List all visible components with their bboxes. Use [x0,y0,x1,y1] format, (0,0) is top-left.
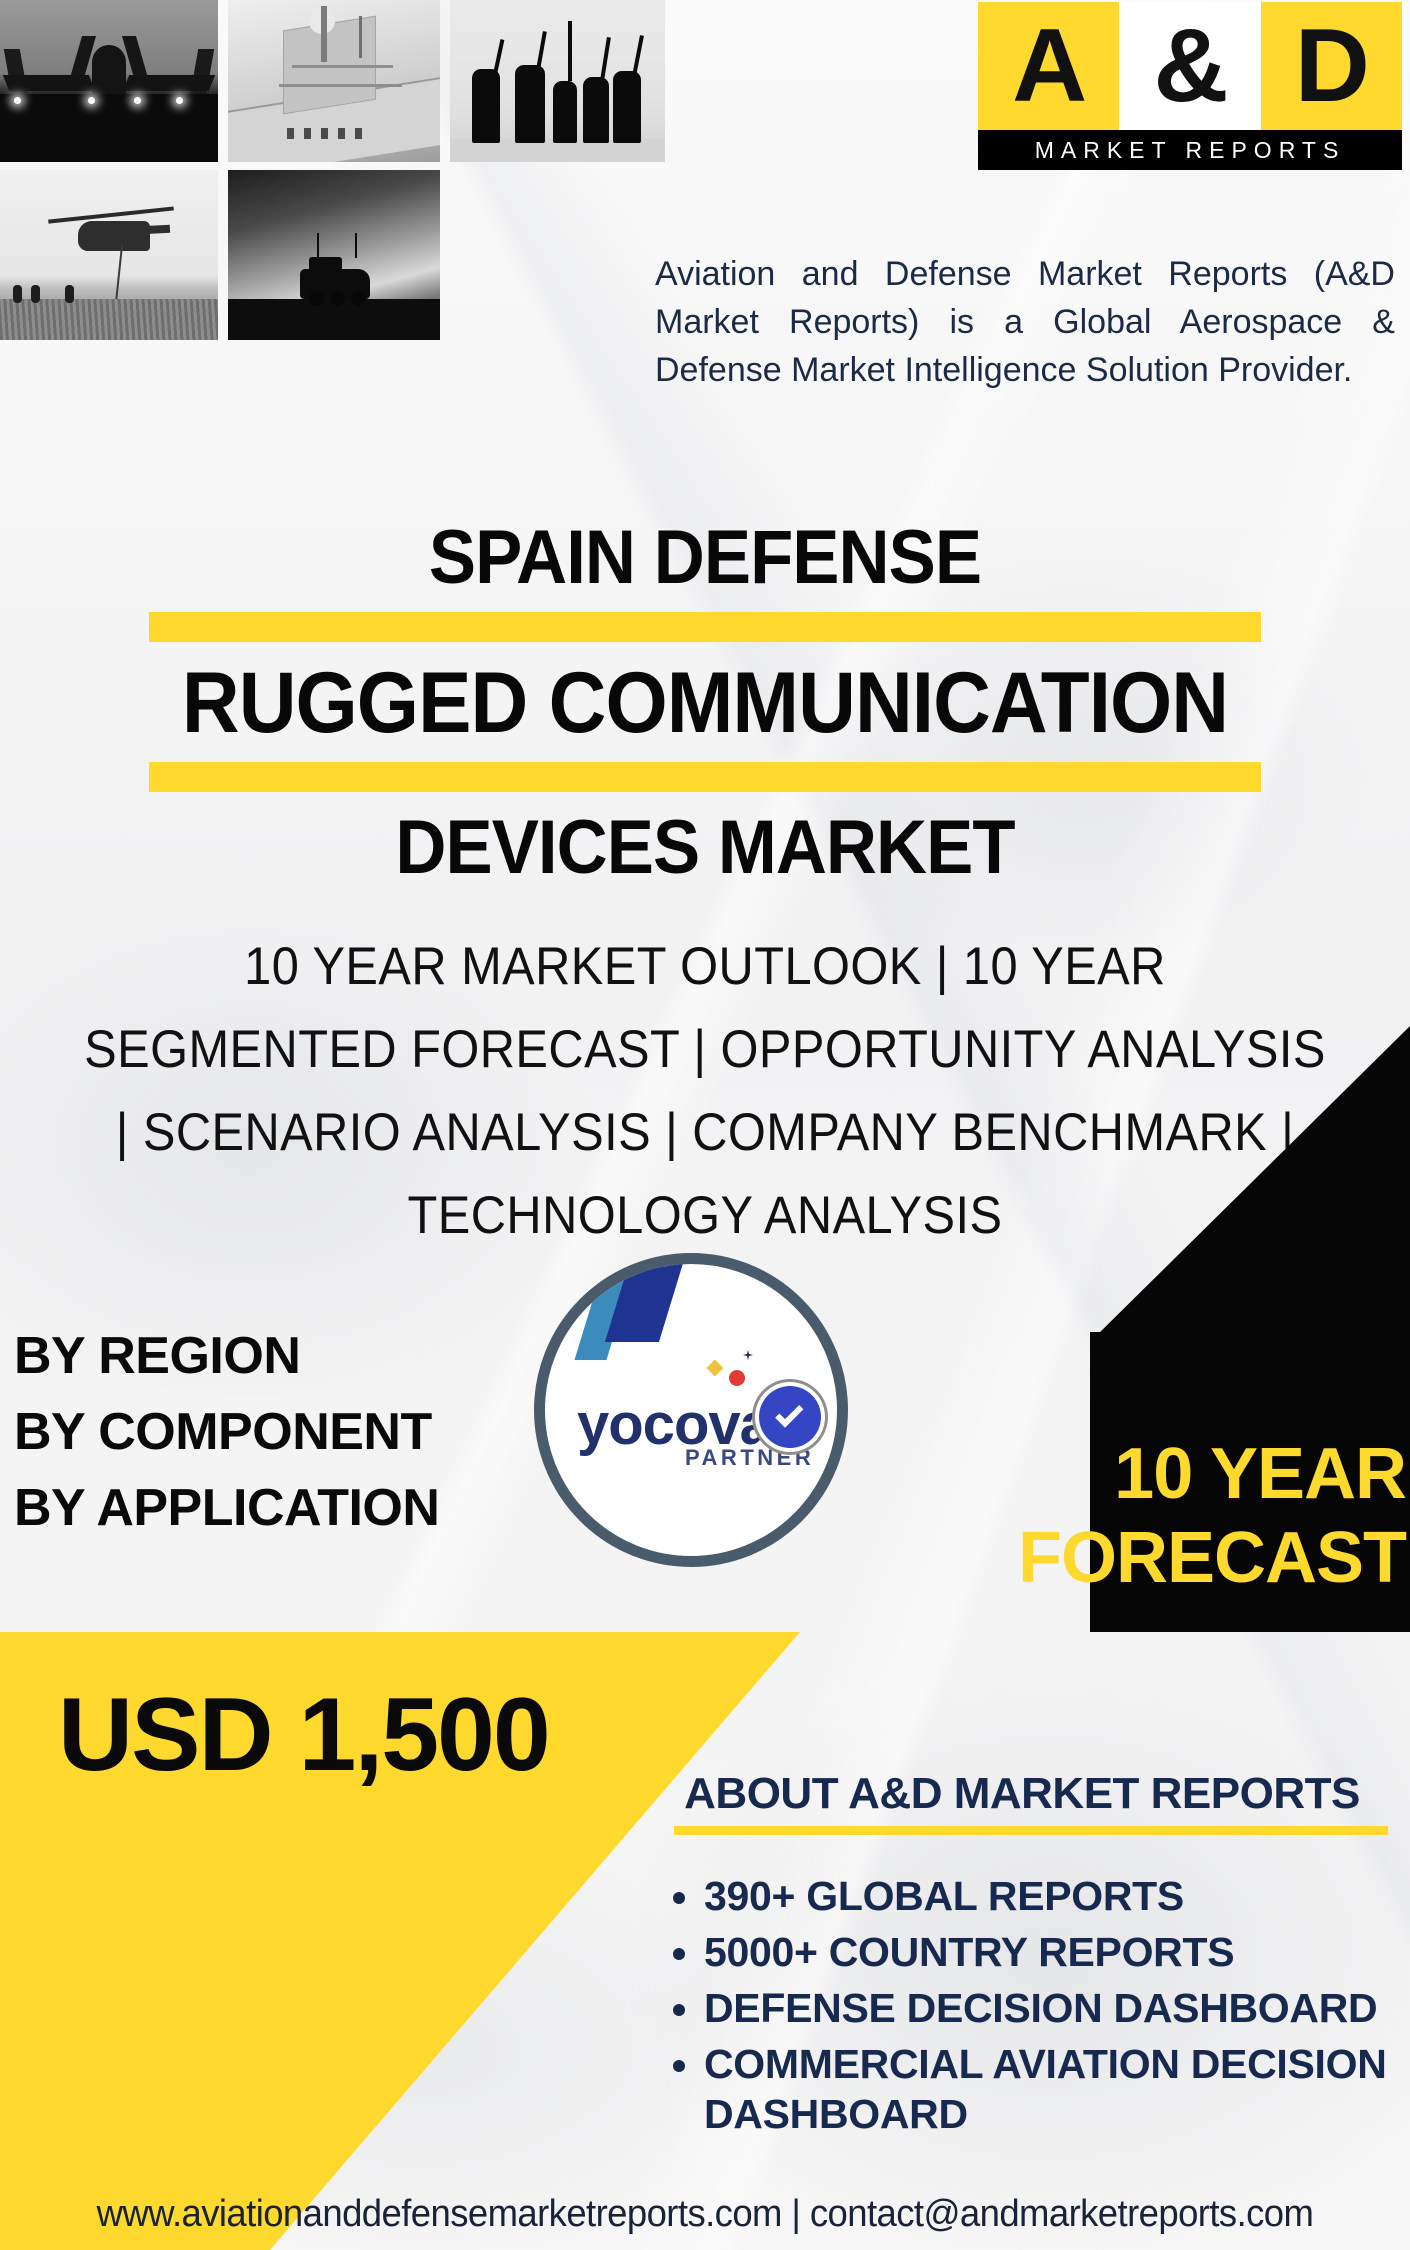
title-divider-bar-2 [149,762,1261,792]
photo-warship [228,0,440,162]
logo-letter-d: D [1261,2,1402,130]
logo-subtitle: MARKET REPORTS [978,130,1402,170]
report-cover-poster: A & D MARKET REPORTS Aviation and Defens… [0,0,1410,2250]
about-heading: ABOUT A&D MARKET REPORTS [652,1768,1392,1820]
sparkle-icon [743,1350,753,1360]
logo-letter-a: A [978,2,1119,130]
segmentation-item-region: BY REGION [14,1318,574,1394]
title-divider-bar-1 [149,612,1261,642]
verified-check-icon [759,1386,821,1448]
photo-collage [0,0,660,340]
about-section: ABOUT A&D MARKET REPORTS 390+ GLOBAL REP… [652,1768,1392,2145]
segmentation-item-application: BY APPLICATION [14,1470,574,1546]
price-label: USD 1,500 [58,1676,549,1795]
company-intro-paragraph: Aviation and Defense Market Reports (A&D… [655,250,1395,394]
logo-letter-ampersand: & [1119,2,1260,130]
list-item: 5000+ COUNTRY REPORTS [704,1927,1392,1977]
logo-tiles: A & D [978,2,1402,130]
badge-shape-dark-blue [605,1253,687,1342]
about-heading-underline [674,1826,1388,1835]
photo-fighter-jet [0,0,218,162]
list-item: DEFENSE DECISION DASHBOARD [704,1983,1392,2033]
segmentation-item-component: BY COMPONENT [14,1394,574,1470]
photo-soldiers [450,0,665,162]
page-title: SPAIN DEFENSE RUGGED COMMUNICATION DEVIC… [0,515,1410,891]
footer-contact: www.aviationanddefensemarketreports.com … [28,2193,1382,2236]
list-item: 390+ GLOBAL REPORTS [704,1871,1392,1921]
brand-logo: A & D MARKET REPORTS [978,2,1402,170]
photo-helicopter [0,170,218,340]
title-line-3: DEVICES MARKET [49,805,1360,891]
dot-icon [729,1370,745,1386]
forecast-callout: 10 YEAR FORECAST [860,1432,1406,1600]
list-item: COMMERCIAL AVIATION DECISION DASHBOARD [704,2039,1392,2139]
forecast-line-1: 10 YEAR [860,1432,1406,1516]
diamond-icon [707,1360,724,1377]
forecast-line-2: FORECAST [860,1516,1406,1600]
photo-armored-vehicle [228,170,440,340]
yocova-partner-badge: yocova PARTNER [534,1253,848,1567]
about-bullet-list: 390+ GLOBAL REPORTS 5000+ COUNTRY REPORT… [704,1871,1392,2139]
report-scope-subtitle: 10 YEAR MARKET OUTLOOK | 10 YEAR SEGMENT… [84,925,1326,1257]
badge-tier-label: PARTNER [685,1445,814,1471]
title-line-1: SPAIN DEFENSE [49,515,1360,601]
segmentation-list: BY REGION BY COMPONENT BY APPLICATION [14,1318,574,1546]
title-line-2: RUGGED COMMUNICATION [49,655,1360,751]
